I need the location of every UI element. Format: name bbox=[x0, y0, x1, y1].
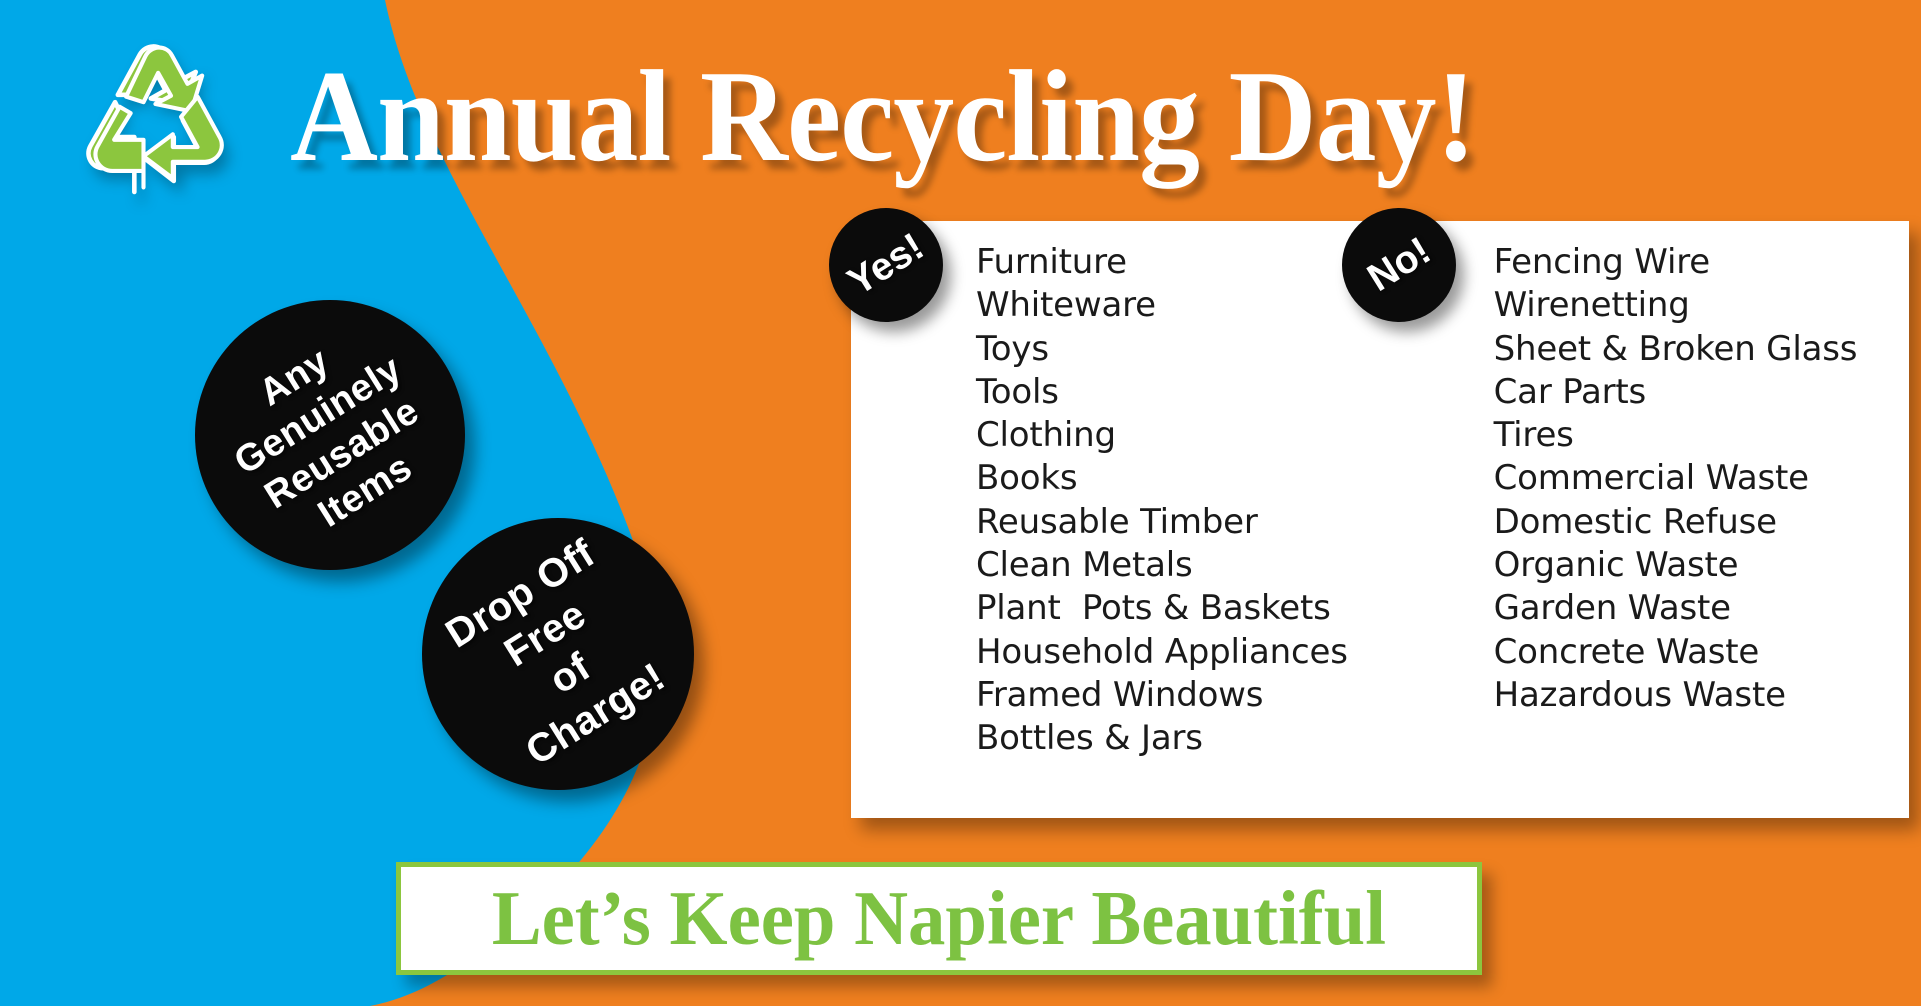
accepted-item: Furniture bbox=[976, 241, 1360, 284]
accepted-item: Bottles & Jars bbox=[976, 717, 1360, 760]
accepted-item: Whiteware bbox=[976, 284, 1360, 327]
rejected-item: Sheet & Broken Glass bbox=[1494, 328, 1909, 371]
rejected-item: Organic Waste bbox=[1494, 544, 1909, 587]
accepted-item: Plant Pots & Baskets bbox=[976, 587, 1360, 630]
rejected-items-column: Fencing WireWirenettingSheet & Broken Gl… bbox=[1360, 221, 1909, 818]
bubble-reusable-items: Any Genuinely Reusable Items bbox=[195, 300, 465, 570]
rejected-item: Commercial Waste bbox=[1494, 457, 1909, 500]
accepted-item: Reusable Timber bbox=[976, 501, 1360, 544]
recycling-day-poster: Annual Recycling Day! Any Genuinely Reus… bbox=[0, 0, 1921, 1006]
status-badge-no: No! bbox=[1342, 208, 1456, 322]
bubble-drop-off-free-label: Drop Off Free of Charge! bbox=[438, 530, 679, 778]
accepted-item: Framed Windows bbox=[976, 674, 1360, 717]
page-title: Annual Recycling Day! bbox=[290, 48, 1611, 186]
slogan-text: Let’s Keep Napier Beautiful bbox=[492, 874, 1386, 963]
rejected-item: Fencing Wire bbox=[1494, 241, 1909, 284]
recycling-arrows-icon-detail bbox=[62, 38, 247, 203]
status-badge-yes: Yes! bbox=[829, 208, 943, 322]
rejected-item: Garden Waste bbox=[1494, 587, 1909, 630]
accepted-item: Books bbox=[976, 457, 1360, 500]
rejected-item: Domestic Refuse bbox=[1494, 501, 1909, 544]
accepted-item: Clothing bbox=[976, 414, 1360, 457]
rejected-item: Concrete Waste bbox=[1494, 631, 1909, 674]
accepted-item: Toys bbox=[976, 328, 1360, 371]
accepted-item: Tools bbox=[976, 371, 1360, 414]
bubble-drop-off-free: Drop Off Free of Charge! bbox=[422, 518, 694, 790]
accepted-items-column: FurnitureWhitewareToysToolsClothingBooks… bbox=[851, 221, 1360, 818]
accepted-item: Household Appliances bbox=[976, 631, 1360, 674]
status-badge-yes-label: Yes! bbox=[840, 225, 931, 305]
bubble-reusable-items-label: Any Genuinely Reusable Items bbox=[203, 309, 458, 561]
rejected-item: Car Parts bbox=[1494, 371, 1909, 414]
rejected-item: Hazardous Waste bbox=[1494, 674, 1909, 717]
rejected-item: Wirenetting bbox=[1494, 284, 1909, 327]
rejected-item: Tires bbox=[1494, 414, 1909, 457]
accepted-item: Clean Metals bbox=[976, 544, 1360, 587]
status-badge-no-label: No! bbox=[1360, 229, 1438, 301]
slogan-banner: Let’s Keep Napier Beautiful bbox=[396, 862, 1482, 975]
